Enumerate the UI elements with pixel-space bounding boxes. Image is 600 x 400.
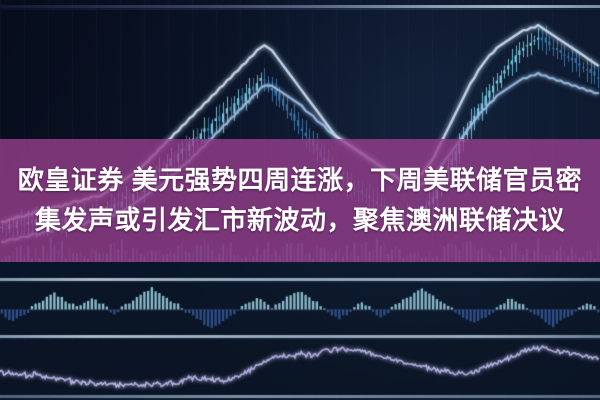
news-banner-image: 欧皇证券 美元强势四周连涨，下周美联储官员密 集发声或引发汇市新波动，聚焦澳洲联…	[0, 0, 600, 400]
headline-line-2: 集发声或引发汇市新波动，聚焦澳洲联储决议	[35, 203, 565, 239]
headline-line-1: 欧皇证券 美元强势四周连涨，下周美联储官员密	[18, 163, 582, 199]
top-panel-border-shadow	[0, 8, 600, 10]
headline-banner-text: 欧皇证券 美元强势四周连涨，下周美联储官员密 集发声或引发汇市新波动，聚焦澳洲联…	[0, 139, 600, 262]
